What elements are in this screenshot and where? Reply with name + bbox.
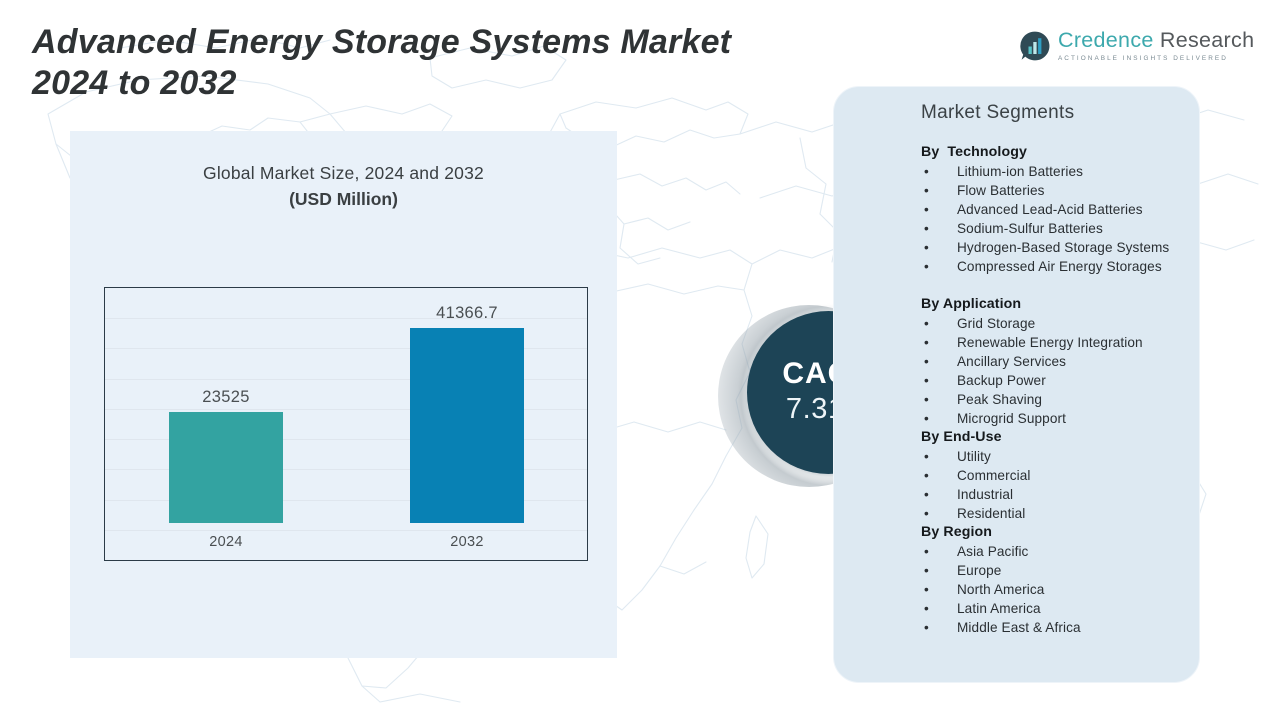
chart-heading: Global Market Size, 2024 and 2032 (USD M… (70, 160, 617, 212)
market-segments-list: By Technology•Lithium-ion Batteries•Flow… (921, 143, 1209, 637)
segment-list-item: •Asia Pacific (921, 542, 1209, 561)
market-segments-title: Market Segments (921, 102, 1074, 124)
category-label-2024: 2024 (129, 534, 323, 550)
segment-list-item: •Renewable Energy Integration (921, 333, 1209, 352)
bullet-icon: • (924, 371, 929, 390)
page-title: Advanced Energy Storage Systems Market 2… (32, 22, 932, 105)
segment-list-item: •Advanced Lead-Acid Batteries (921, 200, 1209, 219)
bullet-icon: • (924, 352, 929, 371)
logo-wordmark: Credence Research (1058, 30, 1254, 52)
segment-group-heading: By End-Use (921, 428, 1209, 447)
chart-heading-line1: Global Market Size, 2024 and 2032 (70, 160, 617, 186)
bullet-icon: • (924, 447, 929, 466)
bullet-icon: • (924, 390, 929, 409)
bullet-icon: • (924, 504, 929, 523)
segment-list-item: •Grid Storage (921, 314, 1209, 333)
segment-group-heading: By Application (921, 295, 1209, 314)
bullet-icon: • (924, 409, 929, 428)
credence-research-logo: Credence Research Actionable Insights De… (1019, 30, 1254, 62)
bar-2024 (169, 412, 283, 523)
segment-group-heading: By Technology (921, 143, 1209, 162)
bullet-icon: • (924, 580, 929, 599)
segment-list-item: •North America (921, 580, 1209, 599)
bar-2032 (410, 328, 524, 523)
segment-group: By Region•Asia Pacific•Europe•North Amer… (921, 523, 1209, 637)
segment-list-item: •Hydrogen-Based Storage Systems (921, 238, 1209, 257)
bar-chart: 23525202441366.72032 (104, 287, 588, 561)
segment-list-item: •Utility (921, 447, 1209, 466)
segment-list-item: •Lithium-ion Batteries (921, 162, 1209, 181)
segment-list-item: •Backup Power (921, 371, 1209, 390)
segment-list-item: •Sodium-Sulfur Batteries (921, 219, 1209, 238)
segment-list-item: •Latin America (921, 599, 1209, 618)
segment-list-item: •Europe (921, 561, 1209, 580)
chart-heading-line2: (USD Million) (70, 186, 617, 212)
logo-tagline: Actionable Insights Delivered (1058, 55, 1254, 62)
logo-word-research: Research (1160, 28, 1254, 52)
segment-list-item: •Peak Shaving (921, 390, 1209, 409)
bullet-icon: • (924, 314, 929, 333)
bullet-icon: • (924, 200, 929, 219)
segment-list-item: •Microgrid Support (921, 409, 1209, 428)
bullet-icon: • (924, 162, 929, 181)
infographic-page: Advanced Energy Storage Systems Market 2… (0, 0, 1267, 713)
segment-list-item: •Middle East & Africa (921, 618, 1209, 637)
segment-group: By Technology•Lithium-ion Batteries•Flow… (921, 143, 1209, 276)
segment-list-item: •Residential (921, 504, 1209, 523)
segment-group-spacer (921, 276, 1209, 295)
bar-value-label-2032: 41366.7 (370, 304, 564, 323)
bullet-icon: • (924, 181, 929, 200)
segment-list-item: •Industrial (921, 485, 1209, 504)
segment-group: By Application•Grid Storage•Renewable En… (921, 295, 1209, 428)
bar-chart-circle-icon (1019, 30, 1051, 62)
category-label-2032: 2032 (370, 534, 564, 550)
bullet-icon: • (924, 257, 929, 276)
bullet-icon: • (924, 485, 929, 504)
segment-list-item: •Compressed Air Energy Storages (921, 257, 1209, 276)
bullet-icon: • (924, 219, 929, 238)
segment-list-item: •Flow Batteries (921, 181, 1209, 200)
segment-group-heading: By Region (921, 523, 1209, 542)
bullet-icon: • (924, 599, 929, 618)
bullet-icon: • (924, 561, 929, 580)
bar-value-label-2024: 23525 (129, 388, 323, 407)
segment-list-item: •Commercial (921, 466, 1209, 485)
bullet-icon: • (924, 542, 929, 561)
bullet-icon: • (924, 618, 929, 637)
logo-word-credence: Credence (1058, 28, 1154, 52)
bullet-icon: • (924, 238, 929, 257)
segment-list-item: •Ancillary Services (921, 352, 1209, 371)
gridline (105, 530, 587, 531)
logo-text-block: Credence Research Actionable Insights De… (1058, 30, 1254, 62)
bullet-icon: • (924, 466, 929, 485)
bullet-icon: • (924, 333, 929, 352)
segment-group: By End-Use•Utility•Commercial•Industrial… (921, 428, 1209, 523)
